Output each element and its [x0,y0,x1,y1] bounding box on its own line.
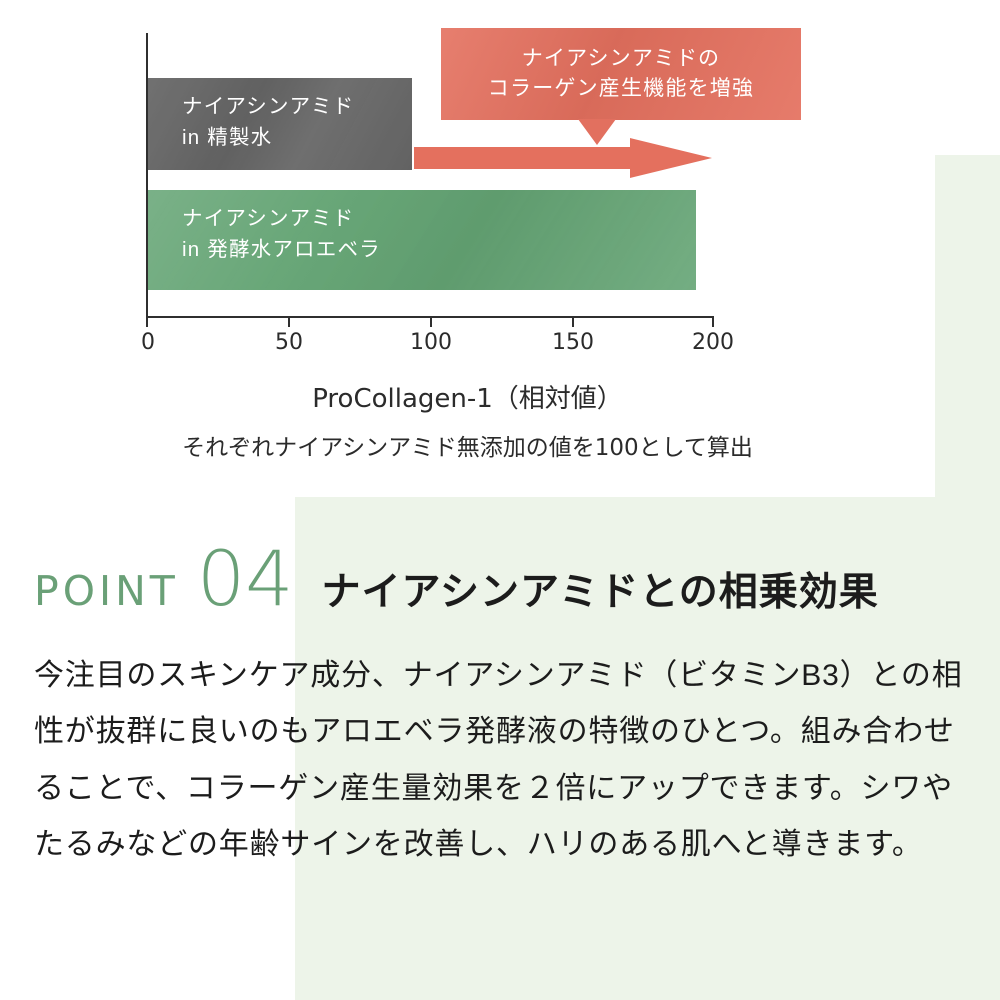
bar-niacinamide-purified-water: ナイアシンアミド in 精製水 [148,78,412,170]
x-tick-label-0: 0 [141,330,155,355]
body-paragraph: 今注目のスキンケア成分、ナイアシンアミド（ビタミンB3）との相性が抜群に良いのも… [34,648,974,874]
x-tick-label-200: 200 [692,330,734,355]
point-label: POINT [34,567,179,615]
x-tick-label-100: 100 [410,330,452,355]
callout-tail-icon [578,119,616,145]
x-tick-150 [572,316,574,327]
x-tick-label-150: 150 [552,330,594,355]
x-axis-title: ProCollagen-1（相対値） [0,378,935,415]
increase-arrow-icon [414,138,712,178]
x-tick-0 [146,316,148,327]
chart-note: それぞれナイアシンアミド無添加の値を100として算出 [0,428,935,462]
x-tick-200 [712,316,714,327]
x-tick-50 [288,316,290,327]
point-title: ナイアシンアミドとの相乗効果 [322,561,879,617]
point-heading: POINT 04 ナイアシンアミドとの相乗効果 [34,545,974,625]
bar-niacinamide-fermented-aloe: ナイアシンアミド in 発酵水アロエベラ [148,190,696,290]
x-tick-label-50: 50 [275,330,303,355]
x-tick-100 [430,316,432,327]
chart-card: ナイアシンアミド in 精製水 ナイアシンアミド in 発酵水アロエベラ 0 5… [0,0,935,497]
callout-box: ナイアシンアミドの コラーゲン産生機能を増強 [441,28,801,120]
point-number: 04 [197,545,294,613]
